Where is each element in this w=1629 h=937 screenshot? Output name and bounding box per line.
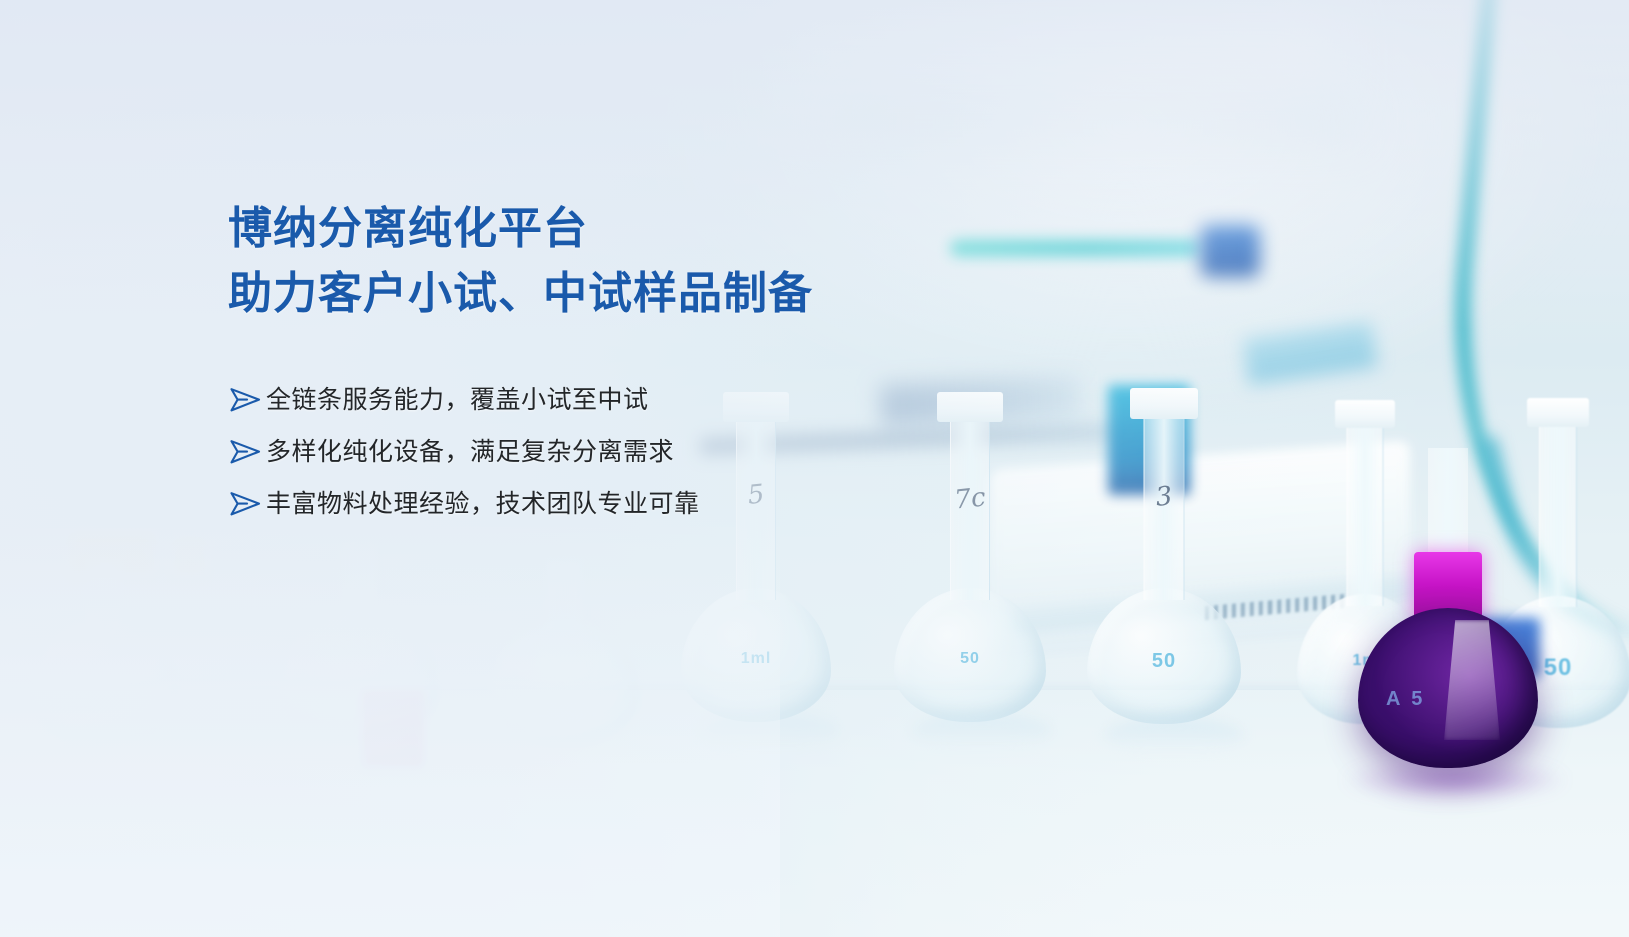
list-item-label: 多样化纯化设备，满足复杂分离需求 <box>266 437 674 467</box>
flask-volume-marking: A 5 <box>1386 688 1425 711</box>
list-item-label: 全链条服务能力，覆盖小试至中试 <box>266 385 649 415</box>
headline-line-1: 博纳分离纯化平台 <box>228 196 813 261</box>
hero-banner: 5 1ml 7c 50 3 50 1m 50 <box>0 0 1629 937</box>
list-item: 全链条服务能力，覆盖小试至中试 <box>228 374 813 426</box>
list-item: 丰富物料处理经验，技术团队专业可靠 <box>228 478 813 530</box>
headline-line-2: 助力客户小试、中试样品制备 <box>228 261 813 326</box>
send-arrow-icon <box>228 437 266 467</box>
banner-content: 博纳分离纯化平台 助力客户小试、中试样品制备 全链条服务能力，覆盖小试至中试 <box>228 196 813 530</box>
overlay-wash-bottom <box>0 517 780 937</box>
list-item: 多样化纯化设备，满足复杂分离需求 <box>228 426 813 478</box>
feature-bullet-list: 全链条服务能力，覆盖小试至中试 多样化纯化设备，满足复杂分离需求 <box>228 374 813 530</box>
flask-neck <box>1428 448 1468 568</box>
send-arrow-icon <box>228 385 266 415</box>
list-item-label: 丰富物料处理经验，技术团队专业可靠 <box>266 489 700 519</box>
flask-bulb <box>1358 608 1538 768</box>
purple-liquid-flask: A 5 <box>1358 560 1538 810</box>
send-arrow-icon <box>228 489 266 519</box>
